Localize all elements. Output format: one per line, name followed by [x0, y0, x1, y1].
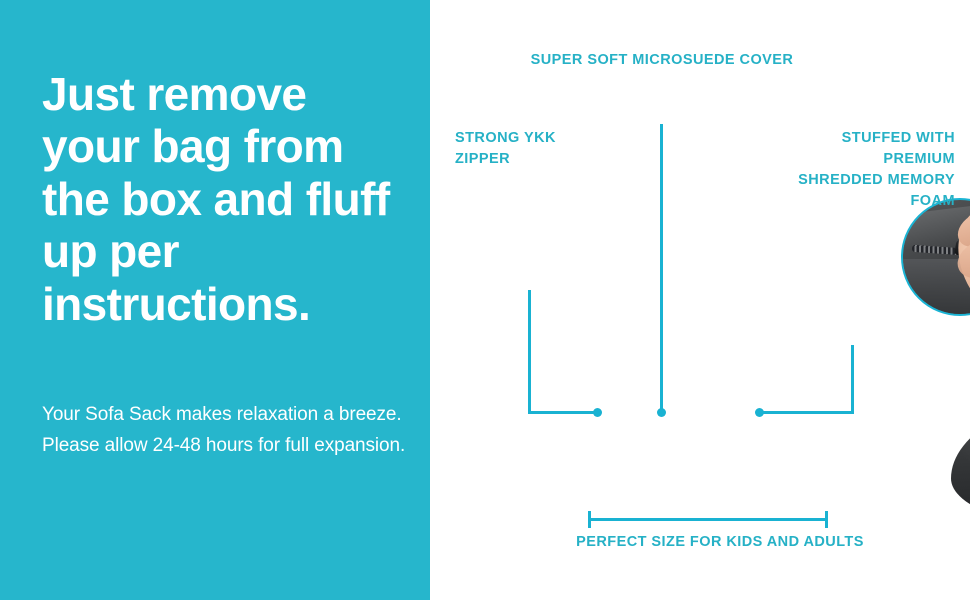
page-headline: Just remove your bag from the box and fl…: [42, 68, 414, 330]
right-image-panel: [430, 0, 970, 600]
connector-foam-horizontal: [758, 411, 854, 414]
connector-zipper-horizontal: [528, 411, 598, 414]
connector-foam-vertical: [851, 345, 854, 414]
size-dimension-cap-right: [825, 511, 828, 528]
product-feature-banner: Just remove your bag from the box and fl…: [0, 0, 970, 600]
zipper-closeup-circle: [901, 198, 970, 316]
left-teal-panel: Just remove your bag from the box and fl…: [0, 0, 430, 600]
connector-zipper-vertical: [528, 290, 531, 414]
page-subcopy: Your Sofa Sack makes relaxation a breeze…: [42, 400, 414, 462]
size-dimension-cap-left: [588, 511, 591, 528]
bean-bag-base: [951, 393, 970, 531]
callout-label-size: PERFECT SIZE FOR KIDS AND ADULTS: [520, 532, 920, 553]
connector-dot-microsuede: [657, 408, 666, 417]
connector-microsuede: [660, 124, 663, 414]
connector-dot-foam: [755, 408, 764, 417]
callout-label-foam: STUFFED WITH PREMIUM SHREDDED MEMORY FOA…: [795, 128, 955, 212]
connector-dot-zipper: [593, 408, 602, 417]
size-dimension-line: [588, 518, 828, 521]
callout-label-zipper: STRONG YKK ZIPPER: [455, 128, 605, 170]
callout-label-microsuede: SUPER SOFT MICROSUEDE COVER: [512, 50, 812, 71]
